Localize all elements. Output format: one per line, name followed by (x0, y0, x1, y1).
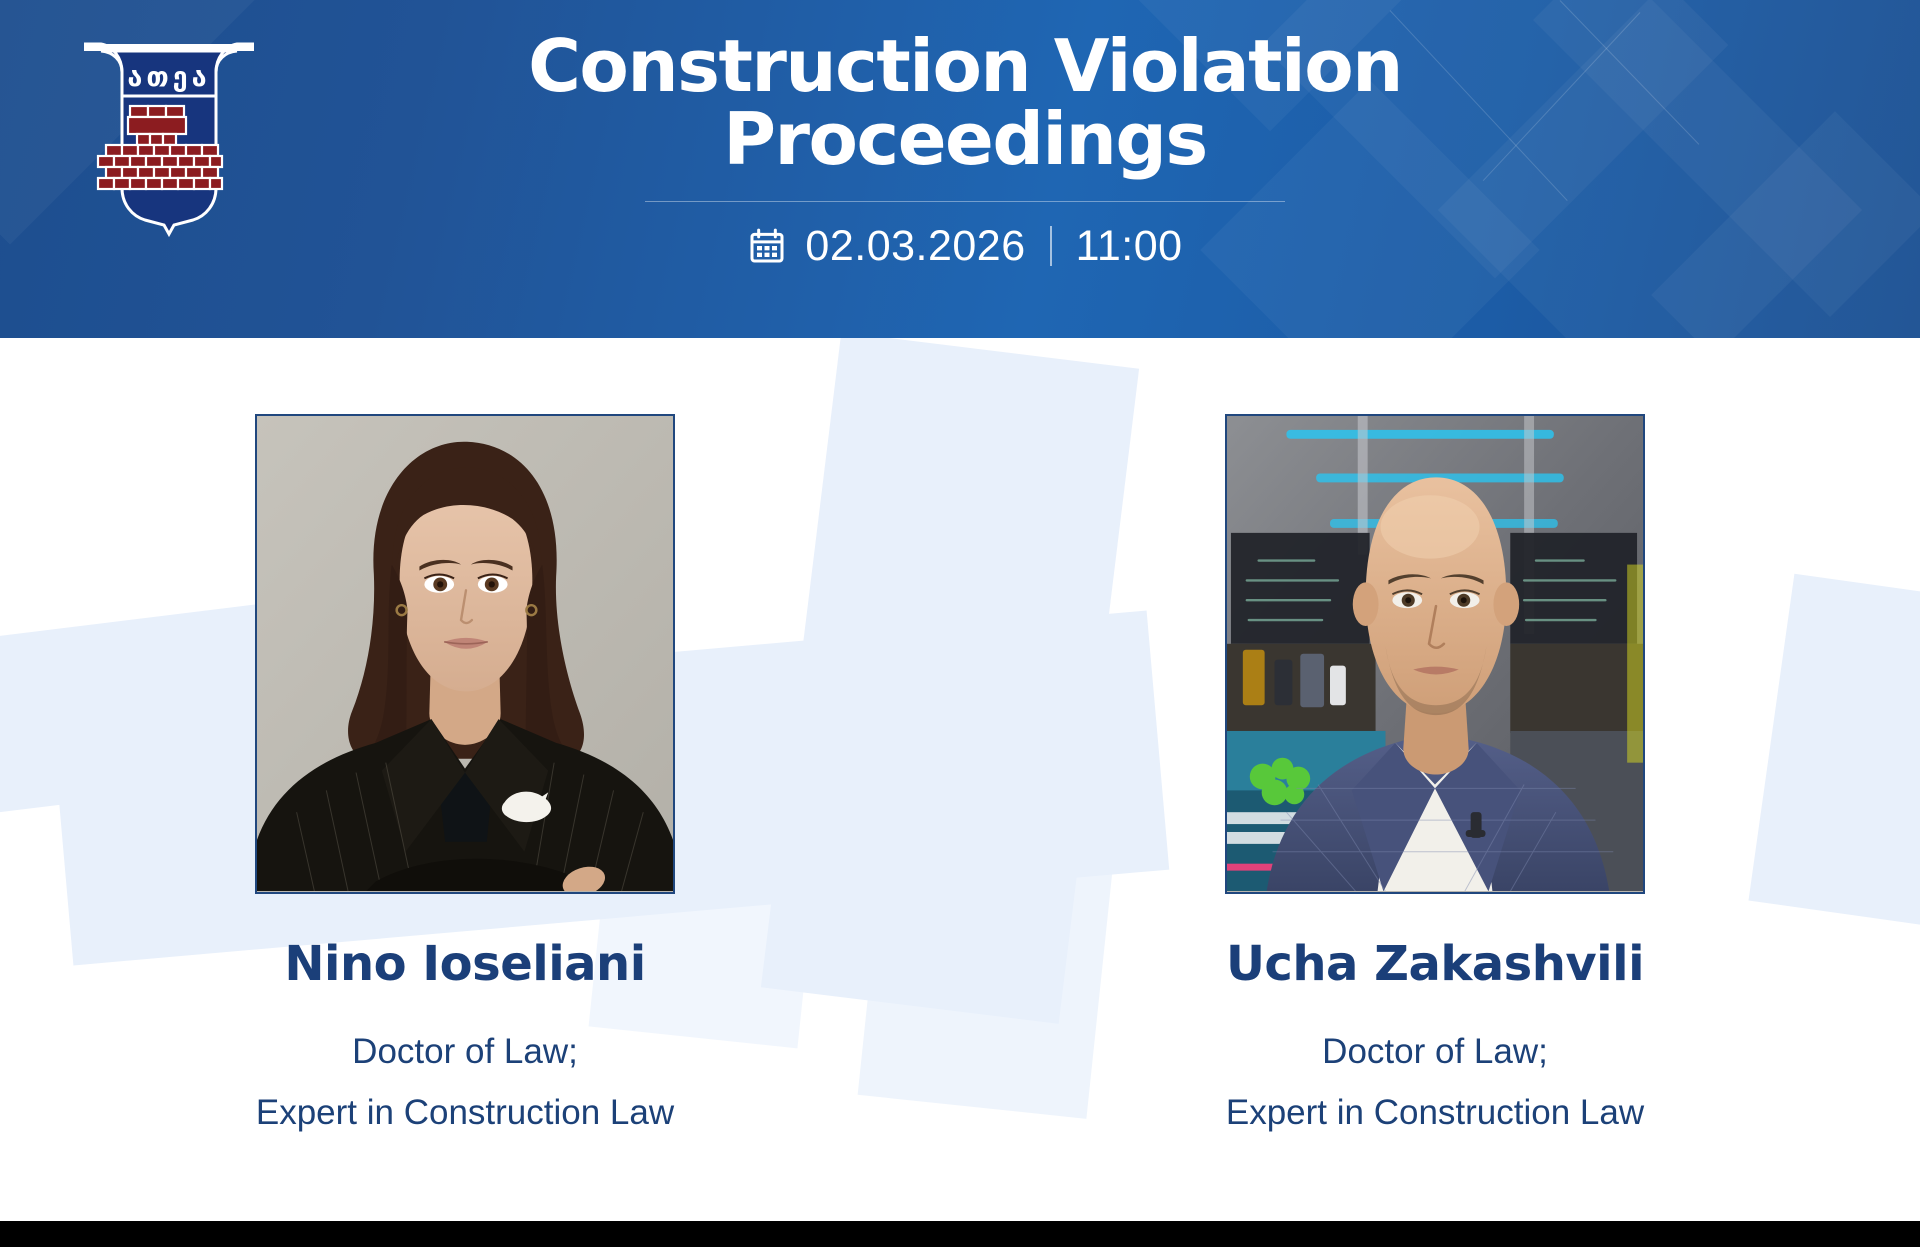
speaker-description: Doctor of Law; Expert in Construction La… (1005, 1021, 1865, 1144)
speaker-description-line-2: Expert in Construction Law (35, 1082, 895, 1143)
event-time: 11:00 (1076, 222, 1183, 271)
calendar-icon (747, 226, 787, 266)
speaker-photo-ucha-zakashvili (1225, 414, 1645, 894)
page-title: Construction Violation Proceedings (415, 30, 1515, 177)
atea-crest-logo: ათეა (46, 18, 292, 248)
event-date: 02.03.2026 (805, 222, 1025, 271)
event-datetime: 02.03.2026 11:00 (747, 222, 1182, 271)
speaker-description: Doctor of Law; Expert in Construction La… (35, 1021, 895, 1144)
datetime-separator (1050, 226, 1052, 266)
speaker-card: Nino Ioseliani Doctor of Law; Expert in … (35, 338, 895, 1143)
page-title-line-1: Construction Violation (528, 24, 1402, 108)
page-title-line-2: Proceedings (723, 97, 1206, 181)
speaker-name: Nino Ioseliani (35, 938, 895, 991)
speaker-card: Ucha Zakashvili Doctor of Law; Expert in… (1005, 338, 1865, 1143)
speaker-description-line-1: Doctor of Law; (35, 1021, 895, 1082)
speaker-description-line-1: Doctor of Law; (1005, 1021, 1865, 1082)
speaker-description-line-2: Expert in Construction Law (1005, 1082, 1865, 1143)
speaker-name: Ucha Zakashvili (1005, 938, 1865, 991)
bottom-bar (0, 1221, 1920, 1247)
header-banner: ათეა (0, 0, 1920, 338)
speakers-section: Nino Ioseliani Doctor of Law; Expert in … (0, 338, 1920, 1221)
header-content: Construction Violation Proceedings (360, 0, 1570, 338)
speaker-photo-nino-ioseliani (255, 414, 675, 894)
svg-text:ათეა: ათეა (127, 62, 210, 93)
header-divider (645, 201, 1285, 202)
